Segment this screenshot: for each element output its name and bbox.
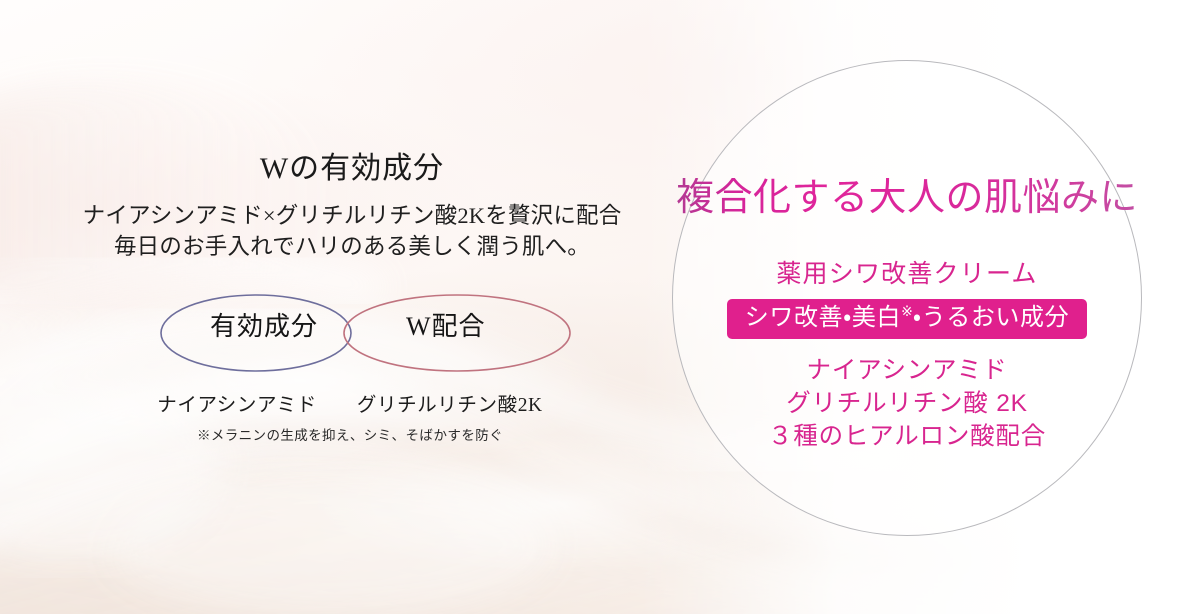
circle-headline: 複合化する大人の肌悩みに <box>676 178 1138 220</box>
benefit-ingredient-list: ナイアシンアミド グリチルリチン酸 2K ３種のヒアルロン酸配合 <box>768 354 1046 454</box>
left-content-column: Wの有効成分 ナイアシンアミド×グリチルリチン酸2Kを贅沢に配合 毎日のお手入れ… <box>62 150 642 263</box>
ingredient-caption-row: ナイアシンアミド グリチルリチン酸2K <box>100 388 600 417</box>
circle-content: 複合化する大人の肌悩みに 薬用シワ改善クリーム シワ改善・美白※・うるおい成分 … <box>672 60 1142 536</box>
benefit-line-2: グリチルリチン酸 2K <box>768 387 1046 420</box>
left-lead-line-2: 毎日のお手入れでハリのある美しく潤う肌へ。 <box>62 231 642 263</box>
venn-label-right: W配合 <box>406 306 486 343</box>
venn-ellipses-svg <box>100 288 600 380</box>
badge-superscript-mark: ※ <box>901 303 913 319</box>
badge-text-after: ・うるおい成分 <box>913 304 1069 331</box>
venn-label-left: 有効成分 <box>210 306 318 343</box>
venn-diagram: 有効成分 W配合 <box>100 288 600 380</box>
promo-panel: Wの有効成分 ナイアシンアミド×グリチルリチン酸2Kを贅沢に配合 毎日のお手入れ… <box>0 0 1200 614</box>
circle-subheading: 薬用シワ改善クリーム <box>776 254 1037 290</box>
left-footnote: ※メラニンの生成を抑え、シミ、そばかすを防ぐ <box>100 424 600 444</box>
benefit-badge: シワ改善・美白※・うるおい成分 <box>727 299 1087 339</box>
left-lead-line-1: ナイアシンアミド×グリチルリチン酸2Kを贅沢に配合 <box>62 200 642 232</box>
ingredient-label-2: グリチルリチン酸2K <box>357 388 543 417</box>
benefit-line-1: ナイアシンアミド <box>768 354 1046 387</box>
left-heading: Wの有効成分 <box>62 150 642 188</box>
ingredient-label-1: ナイアシンアミド <box>157 388 317 417</box>
benefit-line-3: ３種のヒアルロン酸配合 <box>768 420 1046 453</box>
badge-text-before: シワ改善・美白 <box>745 304 901 331</box>
